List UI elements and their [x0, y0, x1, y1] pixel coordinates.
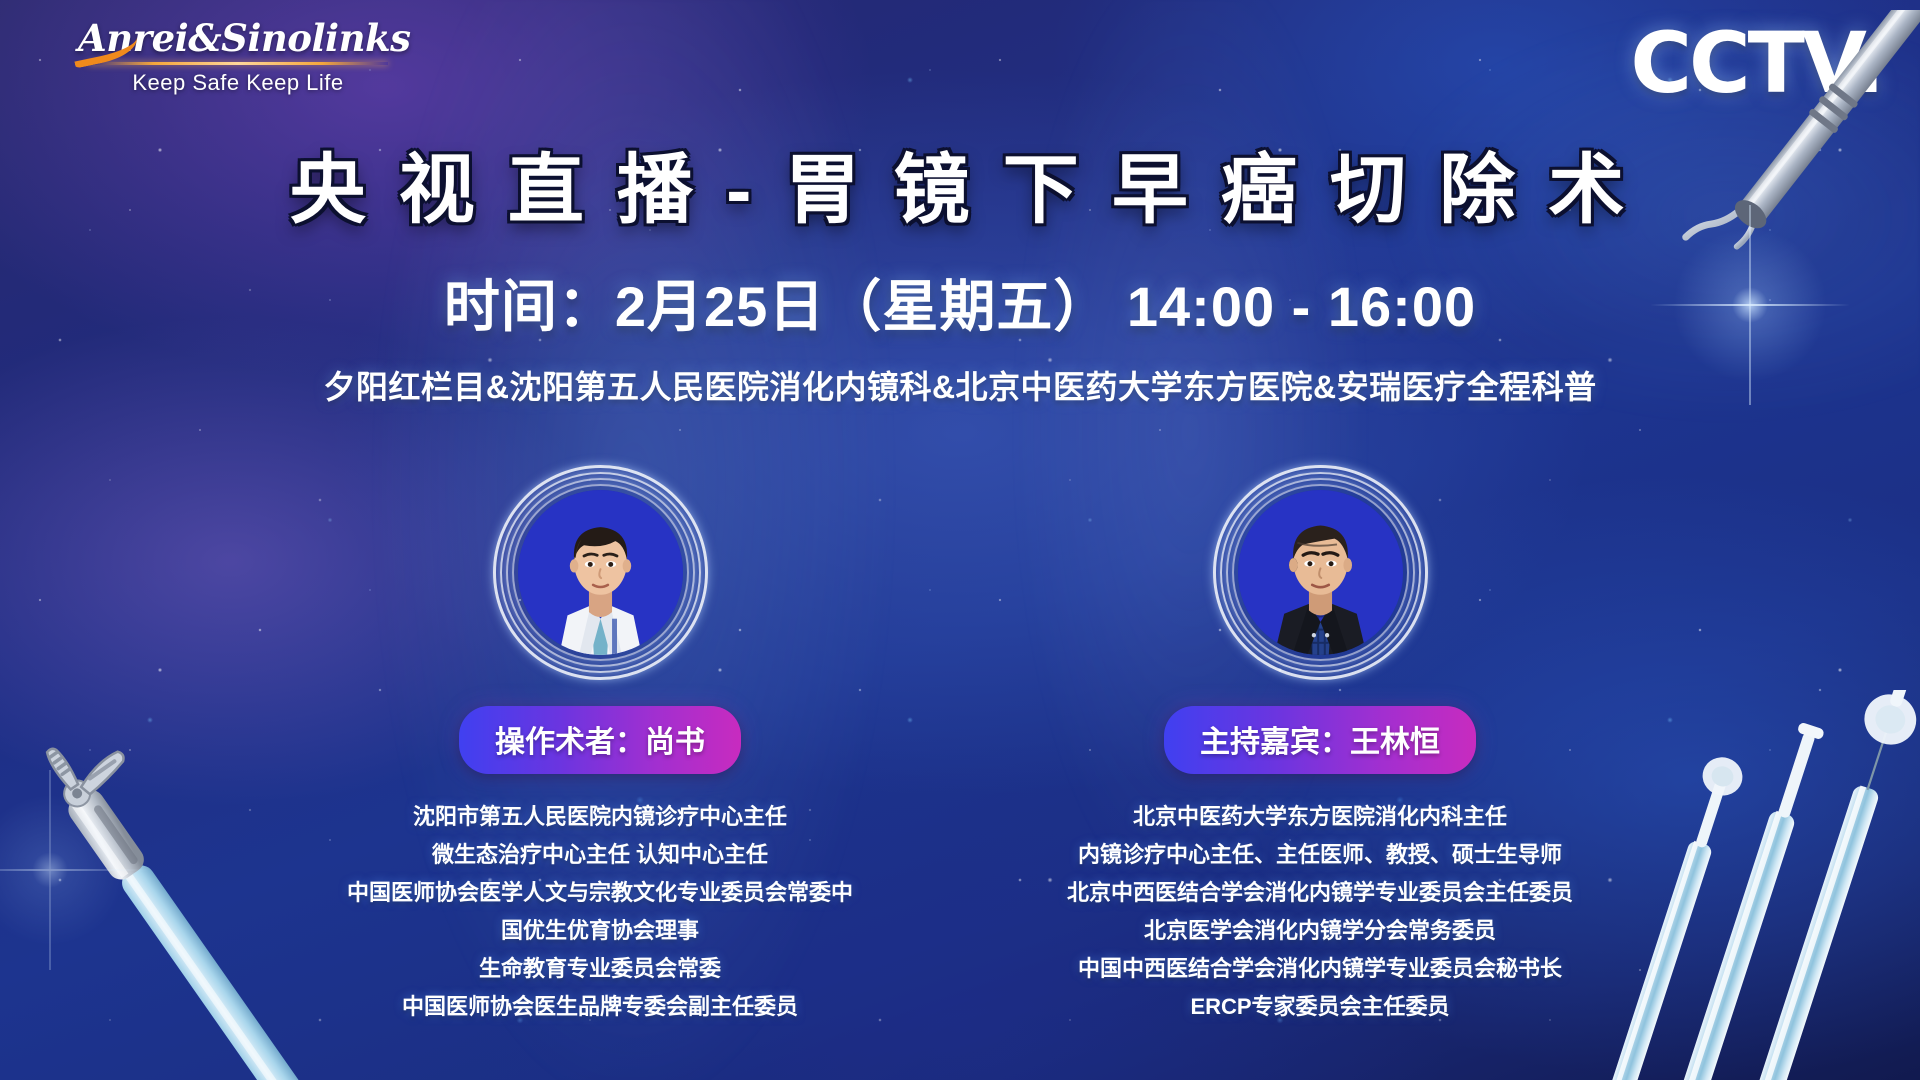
injection-needle-devices-bottom-right — [1590, 690, 1920, 1080]
credential-item: 沈阳市第五人民医院内镜诊疗中心主任 — [340, 798, 860, 836]
brand-tagline: Keep Safe Keep Life — [78, 70, 398, 96]
portrait-frame-right — [1213, 465, 1428, 680]
credential-item: 内镜诊疗中心主任、主任医师、教授、硕士生导师 — [1060, 836, 1580, 874]
sparkle-glow-bottom-left — [0, 780, 140, 960]
page-title: 央 视 直 播 - 胃 镜 下 早 癌 切 除 术 — [0, 128, 1920, 238]
poster-canvas: Anrei&Sinolinks Keep Safe Keep Life CCTV… — [0, 0, 1920, 1080]
partner-organizations: 夕阳红栏目&沈阳第五人民医院消化内镜科&北京中医药大学东方医院&安瑞医疗全程科普 — [0, 362, 1920, 408]
credential-item: 北京中医药大学东方医院消化内科主任 — [1060, 798, 1580, 836]
credential-item: 国优生优育协会理事 — [340, 912, 860, 950]
credential-item: 生命教育专业委员会常委 — [340, 950, 860, 988]
portrait-frame-left — [493, 465, 708, 680]
event-time: 时间：2月25日（星期五） 14:00 - 16:00 — [0, 262, 1920, 343]
credential-item: 微生态治疗中心主任 认知中心主任 — [340, 836, 860, 874]
credential-item: 中国中西医结合学会消化内镜学专业委员会秘书长 — [1060, 950, 1580, 988]
cctv-logo: CCTV. — [1630, 14, 1882, 112]
role-badge: 操作术者：尚书 — [459, 706, 741, 774]
credential-item: 中国医师协会医学人文与宗教文化专业委员会常委中 — [340, 874, 860, 912]
credential-list-left: 沈阳市第五人民医院内镜诊疗中心主任 微生态治疗中心主任 认知中心主任 中国医师协… — [340, 798, 860, 1026]
credential-item: ERCP专家委员会主任委员 — [1060, 988, 1580, 1026]
speaker-card-left: 操作术者：尚书 沈阳市第五人民医院内镜诊疗中心主任 微生态治疗中心主任 认知中心… — [340, 465, 860, 1026]
avatar — [518, 490, 683, 655]
credential-item: 北京中西医结合学会消化内镜学专业委员会主任委员 — [1060, 874, 1580, 912]
credential-item: 中国医师协会医生品牌专委会副主任委员 — [340, 988, 860, 1026]
avatar — [1238, 490, 1403, 655]
role-badge: 主持嘉宾：王林恒 — [1164, 706, 1476, 774]
hemostatic-clip-device-bottom-left — [0, 710, 360, 1080]
brand-divider — [88, 62, 388, 65]
speaker-card-right: 主持嘉宾：王林恒 北京中医药大学东方医院消化内科主任 内镜诊疗中心主任、主任医师… — [1060, 465, 1580, 1026]
brand-logo: Anrei&Sinolinks Keep Safe Keep Life — [78, 16, 398, 96]
credential-item: 北京医学会消化内镜学分会常务委员 — [1060, 912, 1580, 950]
credential-list-right: 北京中医药大学东方医院消化内科主任 内镜诊疗中心主任、主任医师、教授、硕士生导师… — [1060, 798, 1580, 1026]
